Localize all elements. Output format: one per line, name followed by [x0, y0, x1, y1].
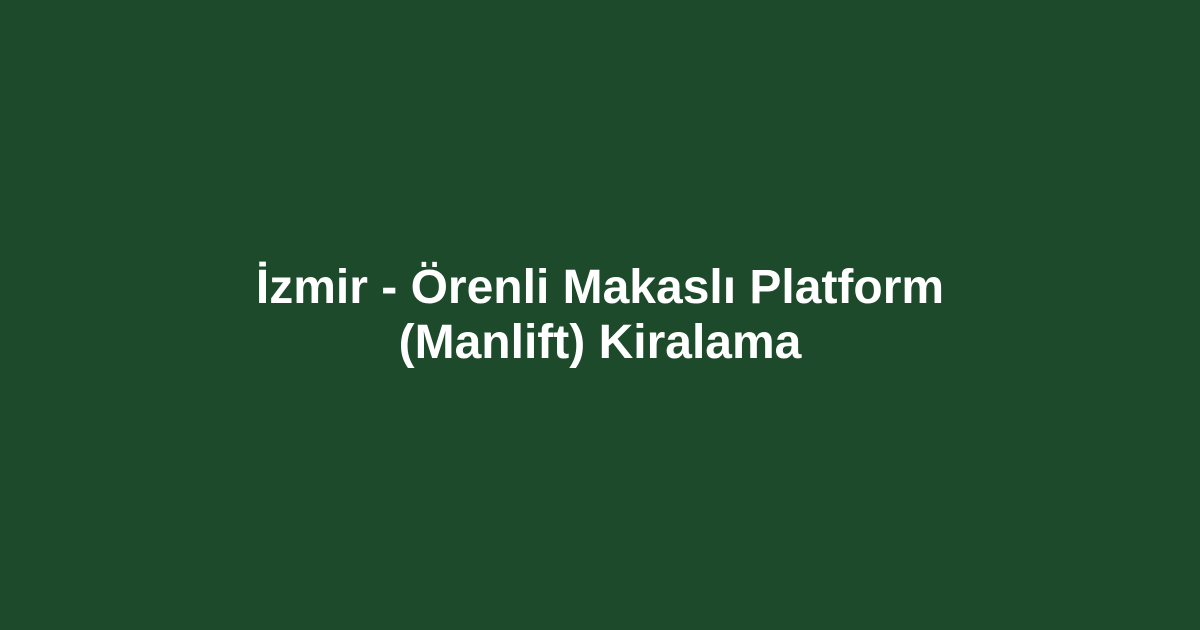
card-content-container: İzmir - Örenli Makaslı Platform (Manlift…	[0, 260, 1200, 370]
page-title: İzmir - Örenli Makaslı Platform (Manlift…	[200, 260, 1000, 370]
social-preview-card: İzmir - Örenli Makaslı Platform (Manlift…	[0, 0, 1200, 630]
